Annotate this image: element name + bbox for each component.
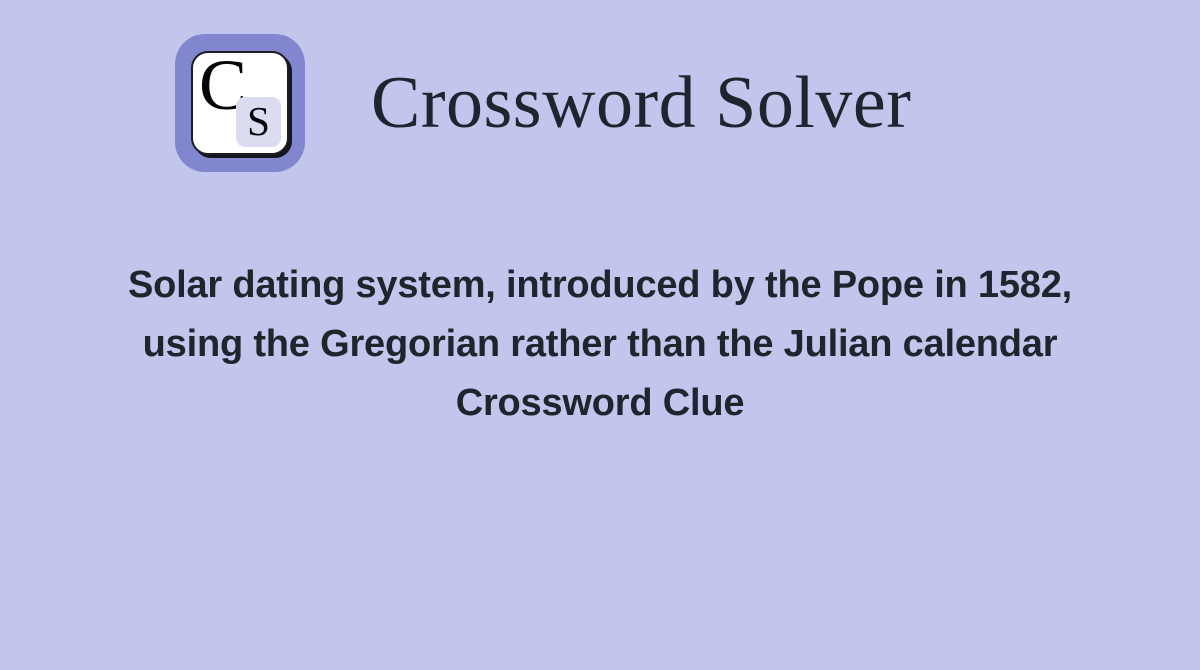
page-root: C S Crossword Solver Solar dating system… <box>0 0 1200 670</box>
site-header: C S Crossword Solver <box>0 34 1200 172</box>
page-title: Solar dating system, introduced by the P… <box>80 256 1120 433</box>
crossword-solver-logo-icon: C S <box>175 34 305 172</box>
clue-text: Solar dating system, introduced by the P… <box>128 264 1072 365</box>
logo-letter-s-tile: S <box>236 97 281 147</box>
logo-letter-s: S <box>247 101 270 142</box>
logo-link[interactable]: C S <box>175 34 305 172</box>
site-title: Crossword Solver <box>305 66 911 140</box>
clue-suffix-label: Crossword Clue <box>80 374 1120 433</box>
logo-inner-card: C S <box>191 51 289 155</box>
clue-container: Solar dating system, introduced by the P… <box>80 256 1120 433</box>
